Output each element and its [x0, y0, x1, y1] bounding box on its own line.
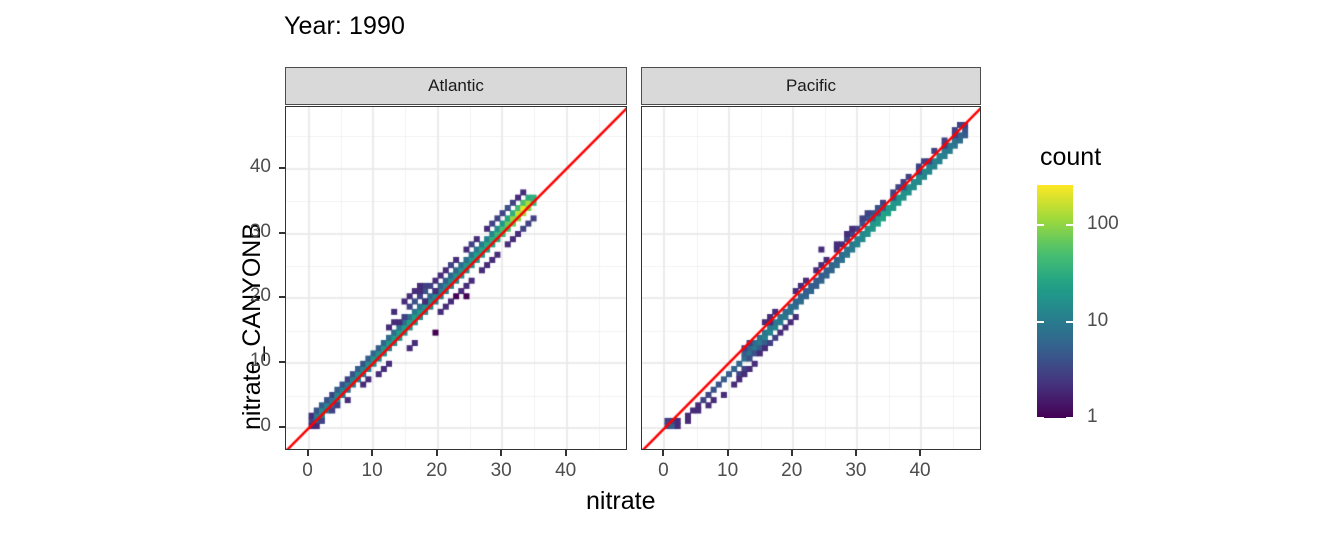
heatmap-canvas: [642, 107, 981, 450]
legend-tick-mark: [1066, 224, 1073, 226]
y-axis-title: nitrate_CANYONB: [238, 223, 267, 430]
facet-strip-label: Atlantic: [428, 76, 484, 96]
y-tick-label: 10: [209, 350, 271, 372]
x-tick-label: 30: [826, 460, 886, 482]
legend-tick-mark: [1066, 417, 1073, 419]
x-tick-label: 10: [698, 460, 758, 482]
x-tick-mark: [919, 450, 921, 456]
facet-strip-label: Pacific: [786, 76, 836, 96]
plot-panel-atlantic: [285, 106, 627, 450]
x-tick-label: 40: [890, 460, 950, 482]
x-tick-label: 30: [471, 460, 531, 482]
x-tick-mark: [727, 450, 729, 456]
plot-panel-pacific: [641, 106, 981, 450]
y-tick-label: 30: [209, 221, 271, 243]
y-tick-label: 0: [209, 415, 271, 437]
legend-tick-mark: [1037, 224, 1044, 226]
x-tick-label: 20: [762, 460, 822, 482]
y-tick-label: 40: [209, 156, 271, 178]
y-tick-mark: [279, 426, 285, 428]
legend-title: count: [1040, 143, 1101, 172]
legend-tick-label: 100: [1087, 213, 1119, 235]
x-tick-mark: [307, 450, 309, 456]
x-tick-mark: [565, 450, 567, 456]
x-tick-mark: [500, 450, 502, 456]
heatmap-canvas: [286, 107, 627, 450]
legend-tick-label: 1: [1087, 406, 1098, 428]
x-tick-label: 40: [536, 460, 596, 482]
y-tick-mark: [279, 361, 285, 363]
facet-strip-pacific: Pacific: [641, 67, 981, 105]
y-tick-mark: [279, 232, 285, 234]
x-tick-label: 0: [633, 460, 693, 482]
page-title: Year: 1990: [284, 12, 405, 41]
legend-tick-mark: [1037, 417, 1044, 419]
y-tick-label: 20: [209, 285, 271, 307]
legend-tick-mark: [1037, 321, 1044, 323]
legend-colorbar: [1037, 185, 1073, 418]
x-tick-label: 0: [278, 460, 338, 482]
facet-strip-atlantic: Atlantic: [285, 67, 627, 105]
x-tick-mark: [791, 450, 793, 456]
x-tick-mark: [436, 450, 438, 456]
legend-tick-label: 10: [1087, 310, 1108, 332]
x-tick-mark: [371, 450, 373, 456]
y-tick-mark: [279, 296, 285, 298]
y-tick-mark: [279, 167, 285, 169]
x-tick-mark: [855, 450, 857, 456]
x-axis-title: nitrate: [586, 487, 655, 516]
x-tick-label: 10: [342, 460, 402, 482]
chart-root: Year: 1990 nitrate_CANYONB AtlanticPacif…: [0, 0, 1344, 537]
x-tick-mark: [662, 450, 664, 456]
x-tick-label: 20: [407, 460, 467, 482]
legend-tick-mark: [1066, 321, 1073, 323]
